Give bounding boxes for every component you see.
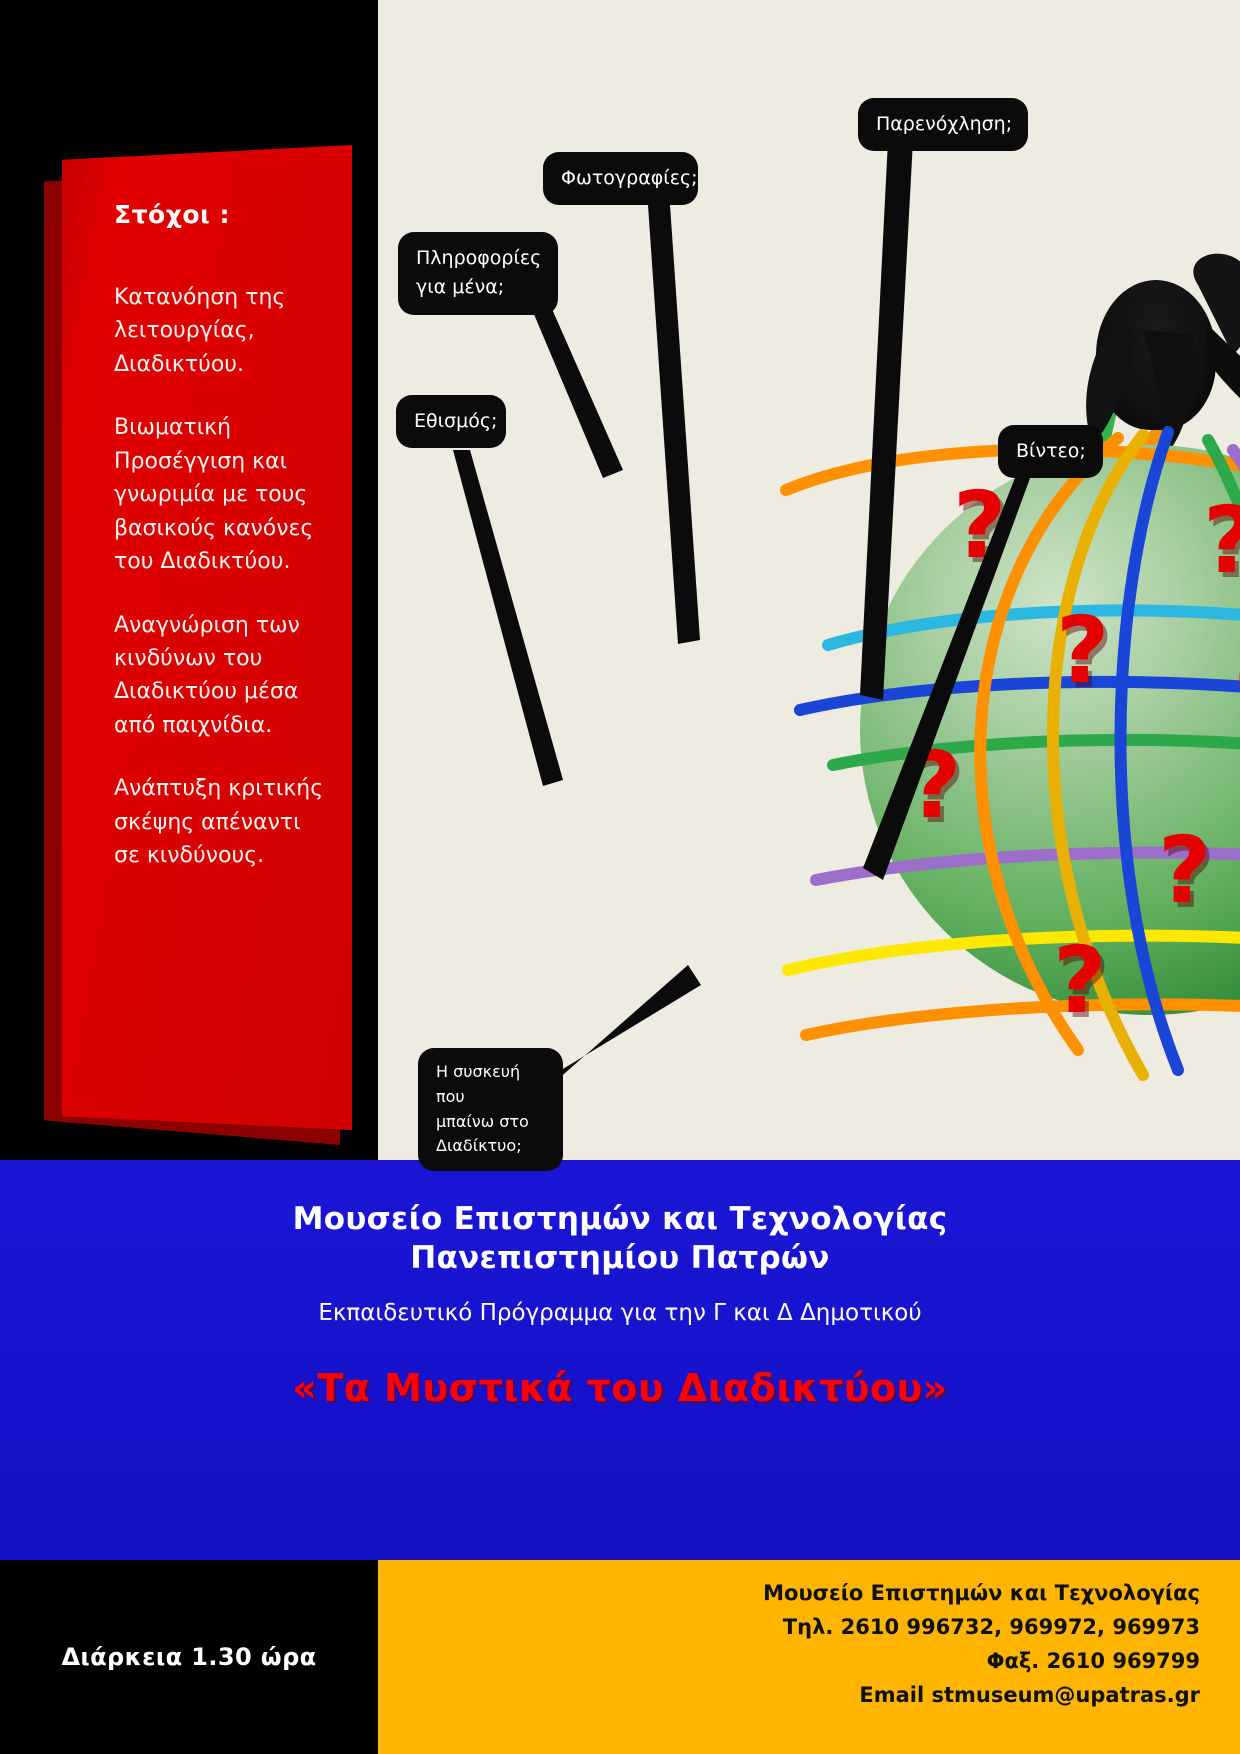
objective-item: Αναγνώριση των κινδύνων του Διαδικτύου μ… <box>114 609 328 743</box>
museum-name-line2: Πανεπιστημίου Πατρών <box>0 1239 1240 1278</box>
bubble-video[interactable]: Βίντεο; <box>998 425 1103 478</box>
artwork-panel: ? ? ? ? ? ? ? Πληροφορίες για μένα; Εθισ… <box>378 0 1240 1160</box>
contact-museum-name: Μουσείο Επιστημών και Τεχνολογίας <box>378 1576 1200 1610</box>
museum-name-line1: Μουσείο Επιστημών και Τεχνολογίας <box>0 1200 1240 1239</box>
contact-phone: Τηλ. 2610 996732, 969972, 969973 <box>378 1610 1200 1644</box>
museum-banner: Μουσείο Επιστημών και Τεχνολογίας Πανεπι… <box>0 1160 1240 1560</box>
program-subtitle: Εκπαιδευτικό Πρόγραμμα για την Γ και Δ Δ… <box>0 1300 1240 1326</box>
bubble-addiction[interactable]: Εθισμός; <box>396 395 506 448</box>
bubble-harassment[interactable]: Παρενόχληση; <box>858 98 1028 151</box>
duration-box: Διάρκεια 1.30 ώρα <box>0 1560 378 1754</box>
duration-label: Διάρκεια 1.30 ώρα <box>61 1643 316 1671</box>
bubble-tails-icon <box>378 0 1240 1160</box>
bubble-info-about-me[interactable]: Πληροφορίες για μένα; <box>398 232 558 315</box>
contact-email[interactable]: Email stmuseum@upatras.gr <box>378 1678 1200 1712</box>
objective-item: Βιωματική Προσέγγιση και γνωριμία με του… <box>114 411 328 578</box>
contact-box: Μουσείο Επιστημών και Τεχνολογίας Τηλ. 2… <box>378 1560 1240 1754</box>
contact-fax: Φαξ. 2610 969799 <box>378 1644 1200 1678</box>
bubble-device[interactable]: Η συσκευή που μπαίνω στο Διαδίκτυο; <box>418 1048 563 1171</box>
objective-item: Κατανόηση της λειτουργίας, Διαδικτύου. <box>114 281 328 381</box>
objective-item: Ανάπτυξη κριτικής σκέψης απέναντι σε κιν… <box>114 772 328 872</box>
objectives-title: Στόχοι : <box>114 200 328 229</box>
bubble-photos[interactable]: Φωτογραφίες; <box>543 152 698 205</box>
poster-root: ? ? ? ? ? ? ? Πληροφορίες για μένα; Εθισ… <box>0 0 1240 1754</box>
program-title: «Τα Μυστικά του Διαδικτύου» <box>0 1366 1240 1410</box>
objectives-panel: Στόχοι : Κατανόηση της λειτουργίας, Διαδ… <box>62 145 352 1130</box>
